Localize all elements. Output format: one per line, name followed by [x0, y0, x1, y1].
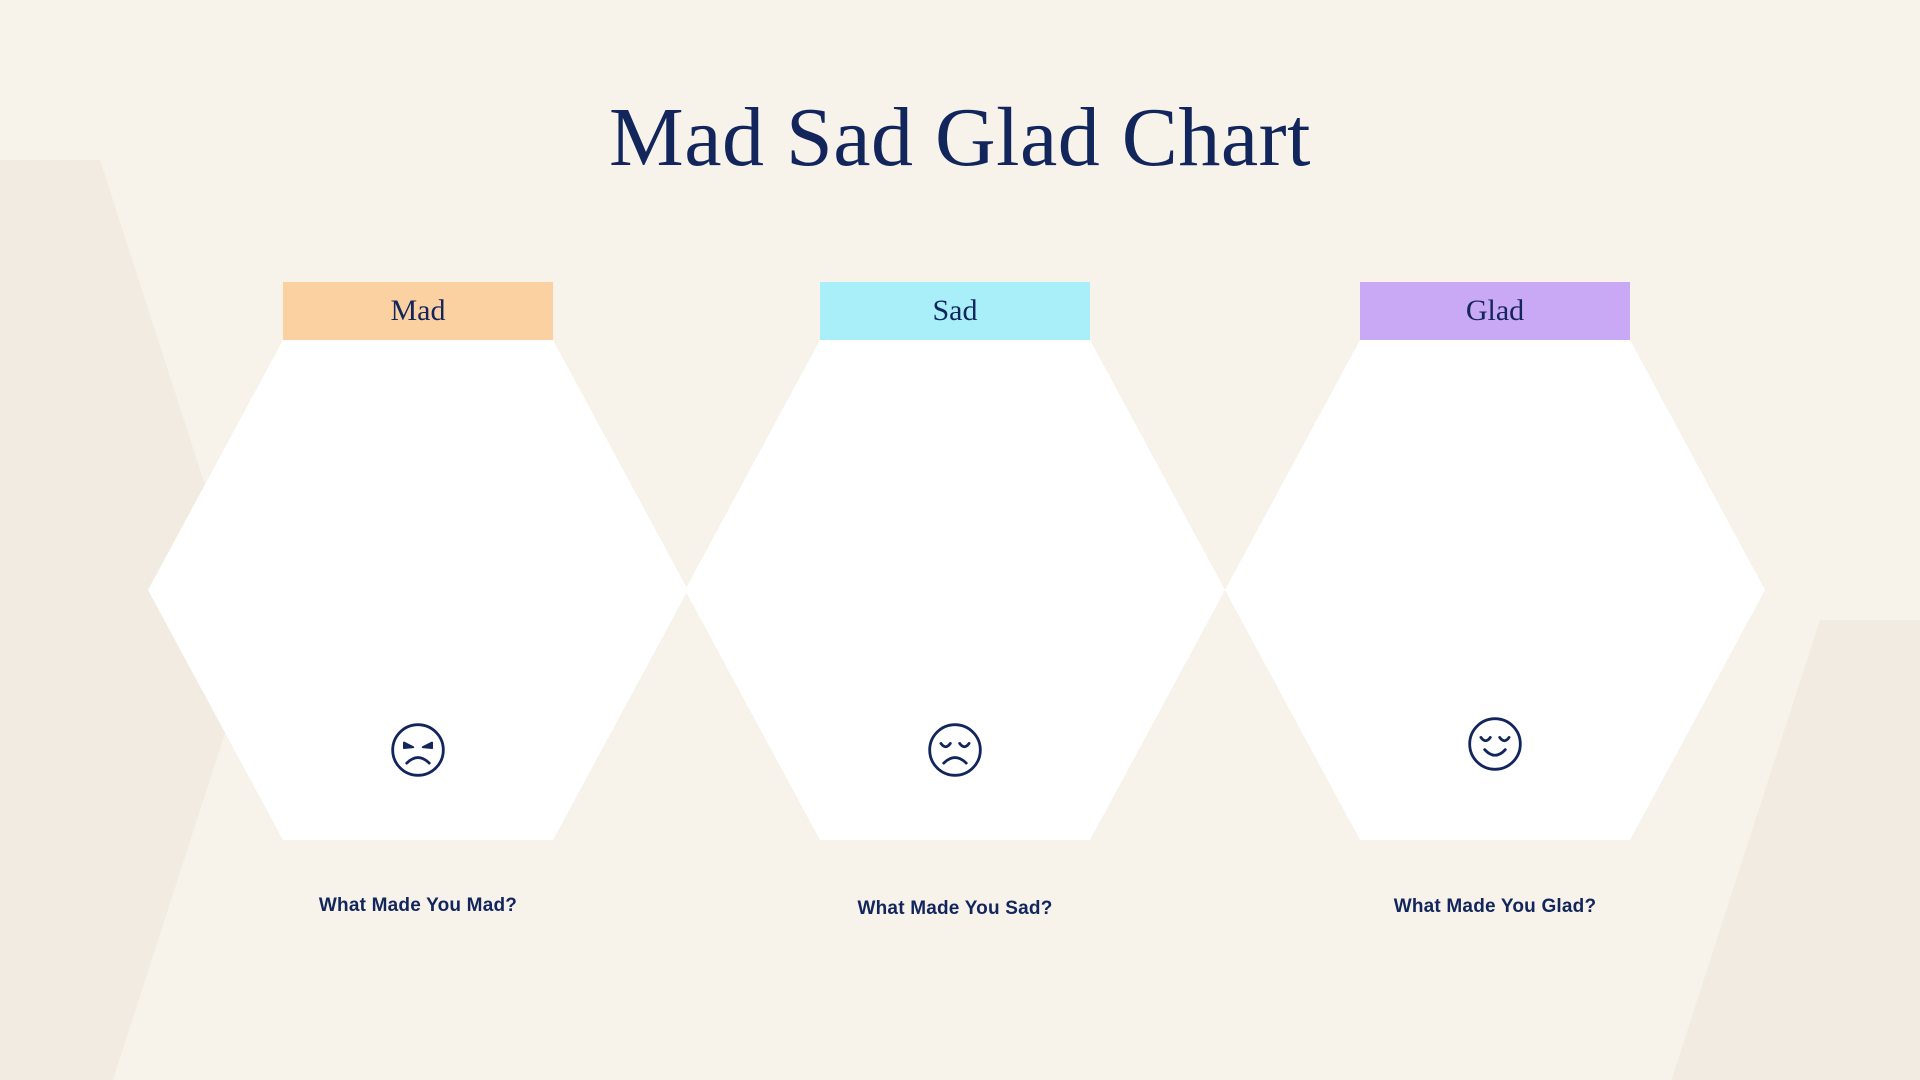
hexagon-glad[interactable]: [1225, 340, 1765, 840]
header-label-sad: Sad: [933, 296, 978, 326]
header-label-glad: Glad: [1466, 296, 1524, 326]
column-sad: Sad What Made You Sad?: [685, 340, 1225, 960]
caption-mad: What Made You Mad?: [148, 895, 688, 917]
hexagon-sad[interactable]: [685, 340, 1225, 840]
happy-face-icon: [1465, 714, 1525, 774]
hexagon-mad[interactable]: [148, 340, 688, 840]
column-glad: Glad What Made You Glad?: [1225, 340, 1765, 960]
caption-sad: What Made You Sad?: [685, 898, 1225, 920]
header-glad[interactable]: Glad: [1360, 282, 1630, 340]
sad-face-icon: [925, 720, 985, 780]
angry-face-icon: [388, 720, 448, 780]
caption-glad: What Made You Glad?: [1225, 896, 1765, 918]
header-label-mad: Mad: [391, 296, 446, 326]
column-mad: Mad What Made You Mad?: [148, 340, 688, 960]
page-title: Mad Sad Glad Chart: [0, 96, 1920, 180]
header-sad[interactable]: Sad: [820, 282, 1090, 340]
header-mad[interactable]: Mad: [283, 282, 553, 340]
